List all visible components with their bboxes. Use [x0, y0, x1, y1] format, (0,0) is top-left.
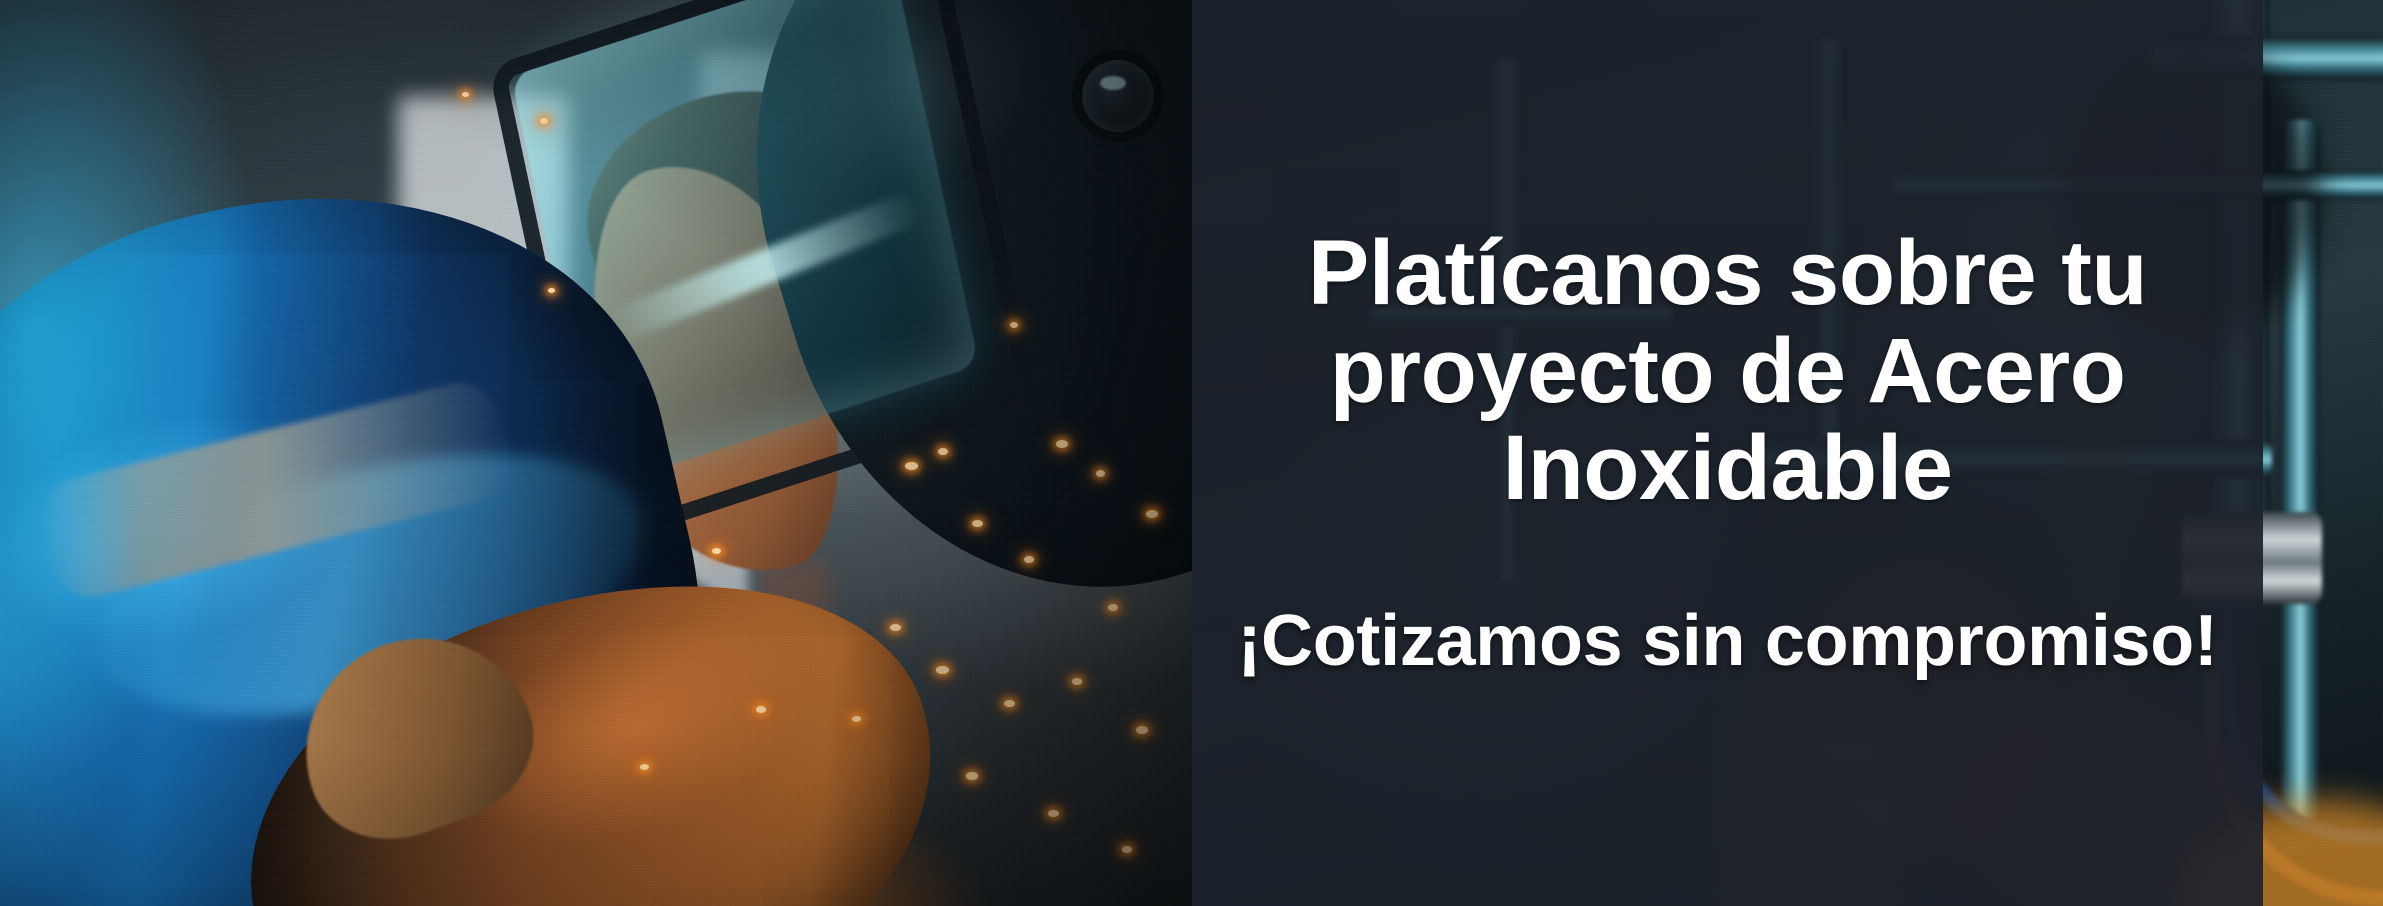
banner-subline: ¡Cotizamos sin compromiso!	[1209, 602, 2245, 681]
photo-vignette	[0, 0, 1192, 906]
banner-headline: Platícanos sobre tu proyecto de Acero In…	[1192, 225, 2263, 518]
hero-banner: Platícanos sobre tu proyecto de Acero In…	[0, 0, 2383, 906]
banner-copy: Platícanos sobre tu proyecto de Acero In…	[1192, 0, 2263, 906]
welder-photo	[0, 0, 1192, 906]
